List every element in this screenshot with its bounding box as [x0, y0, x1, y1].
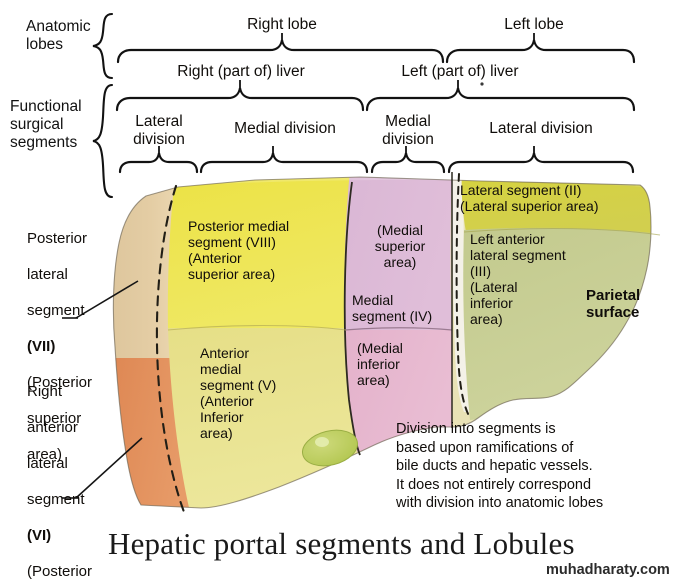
- label-segment-iv: Medial segment (IV): [352, 292, 456, 324]
- label-segment-vi-line6: (Posterior: [27, 563, 137, 581]
- label-segment-vii-line3: segment: [27, 302, 137, 320]
- bracket-caption-left-lobe: Left lobe: [478, 16, 590, 34]
- bracket-caption-medial-division-left: Medial division: [362, 113, 454, 148]
- bracket-caption-right-lobe: Right lobe: [222, 16, 342, 34]
- hepatic-segments-diagram: Anatomic lobes Functional surgical segme…: [0, 0, 691, 584]
- row-label-functional-segments: Functional surgical segments: [10, 98, 82, 152]
- bracket-left-lobe: [447, 40, 634, 62]
- brace-functional-segments: [93, 85, 112, 197]
- label-segment-iv-inferior: (Medial inferior area): [357, 340, 447, 388]
- bracket-medial-division-right: [201, 153, 367, 172]
- bracket-lateral-division-left: [449, 153, 633, 172]
- bracket-caption-lateral-division-left: Lateral division: [458, 120, 624, 138]
- row-label-anatomic-lobes: Anatomic lobes: [26, 18, 91, 54]
- bracket-caption-left-liver: Left (part of) liver: [385, 63, 535, 81]
- label-segment-vi-line2: anterior: [27, 419, 137, 437]
- bracket-lateral-division-right: [120, 153, 197, 172]
- label-parietal-surface: Parietal surface: [586, 287, 676, 322]
- label-segment-v: Anterior medial segment (V) (Anterior In…: [200, 345, 320, 442]
- brace-anatomic-lobes: [93, 14, 112, 78]
- label-segment-ii: Lateral segment (II) (Lateral superior a…: [460, 182, 670, 214]
- label-segment-vii-line1: Posterior: [27, 230, 137, 248]
- label-segment-iv-superior: (Medial superior area): [357, 222, 443, 270]
- bracket-right-lobe: [118, 40, 443, 62]
- bracket-caption-right-liver: Right (part of) liver: [155, 63, 327, 81]
- bracket-caption-lateral-division-right: Lateral division: [113, 113, 205, 148]
- stray-dot: [480, 82, 483, 85]
- label-segment-viii: Posterior medial segment (VIII) (Anterio…: [188, 218, 338, 282]
- page-title: Hepatic portal segments and Lobules: [108, 526, 575, 562]
- label-segment-vi-line1: Right: [27, 383, 137, 401]
- label-segment-vii-numeral: (VII): [27, 338, 137, 356]
- label-segment-vii-line2: lateral: [27, 266, 137, 284]
- bracket-right-liver: [117, 88, 363, 110]
- bracket-caption-medial-division-right: Medial division: [205, 120, 365, 138]
- bracket-left-liver: [367, 88, 634, 110]
- watermark: muhadharaty.com: [546, 562, 670, 578]
- explanatory-note: Division into segments is based upon ram…: [396, 420, 666, 513]
- label-segment-vi-line4: segment: [27, 491, 137, 509]
- bracket-medial-division-left: [372, 153, 444, 172]
- label-segment-vi-line3: lateral: [27, 455, 137, 473]
